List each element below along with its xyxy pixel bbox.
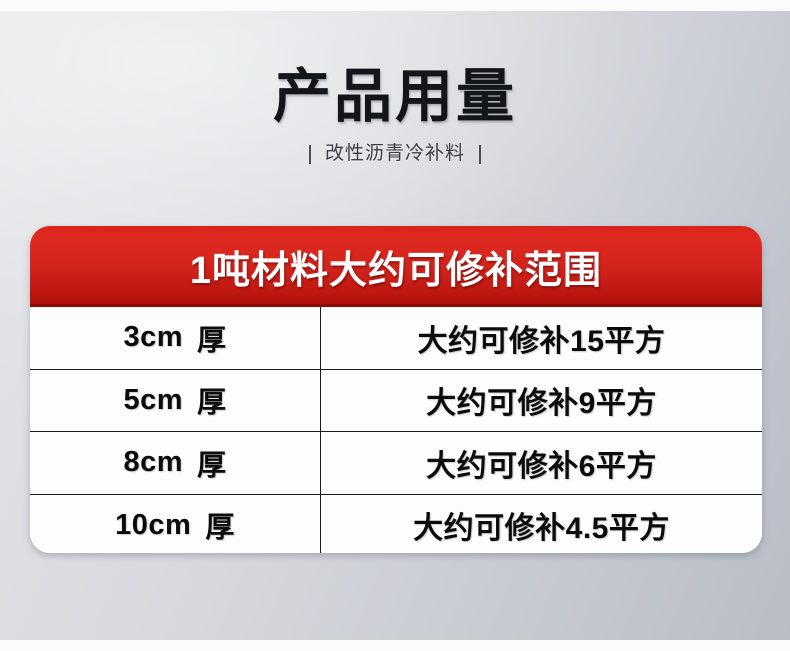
coverage-cell: 大约可修补6平方 [321, 432, 762, 494]
usage-table-card: 1吨材料大约可修补范围 3cm 厚 大约可修补15平方 5cm 厚 大约可修补9… [30, 226, 762, 553]
table-row: 10cm 厚 大约可修补4.5平方 [30, 495, 762, 554]
thickness-cell: 8cm 厚 [30, 432, 321, 494]
thickness-cell: 3cm 厚 [30, 307, 321, 369]
page-subtitle-text: 改性沥青冷补料 [325, 142, 465, 166]
table-row: 8cm 厚 大约可修补6平方 [30, 432, 762, 495]
thickness-value: 10cm [115, 509, 191, 542]
coverage-cell: 大约可修补4.5平方 [321, 495, 762, 554]
thickness-unit: 厚 [197, 442, 227, 484]
table-row: 5cm 厚 大约可修补9平方 [30, 370, 762, 433]
table-row: 3cm 厚 大约可修补15平方 [30, 307, 762, 370]
product-usage-infographic: 产品用量 改性沥青冷补料 1吨材料大约可修补范围 3cm 厚 大约可修补15平方… [0, 0, 790, 651]
divider-bar-right-icon [479, 145, 481, 164]
page-subtitle: 改性沥青冷补料 [0, 142, 790, 166]
thickness-unit: 厚 [197, 317, 227, 359]
thickness-unit: 厚 [205, 504, 235, 546]
coverage-cell: 大约可修补15平方 [321, 307, 762, 369]
thickness-value: 5cm [123, 384, 183, 417]
thickness-unit: 厚 [197, 379, 227, 421]
thickness-value: 8cm [123, 446, 183, 479]
thickness-cell: 5cm 厚 [30, 370, 321, 432]
page-heading: 产品用量 改性沥青冷补料 [0, 64, 790, 166]
thickness-value: 3cm [123, 321, 183, 354]
coverage-cell: 大约可修补9平方 [321, 370, 762, 432]
usage-table-header: 1吨材料大约可修补范围 [30, 226, 762, 307]
thickness-cell: 10cm 厚 [30, 495, 321, 554]
page-title: 产品用量 [0, 64, 790, 130]
usage-table-body: 3cm 厚 大约可修补15平方 5cm 厚 大约可修补9平方 8cm 厚 大约可… [30, 307, 762, 553]
usage-table-header-title: 1吨材料大约可修补范围 [190, 239, 602, 294]
divider-bar-left-icon [309, 145, 311, 164]
